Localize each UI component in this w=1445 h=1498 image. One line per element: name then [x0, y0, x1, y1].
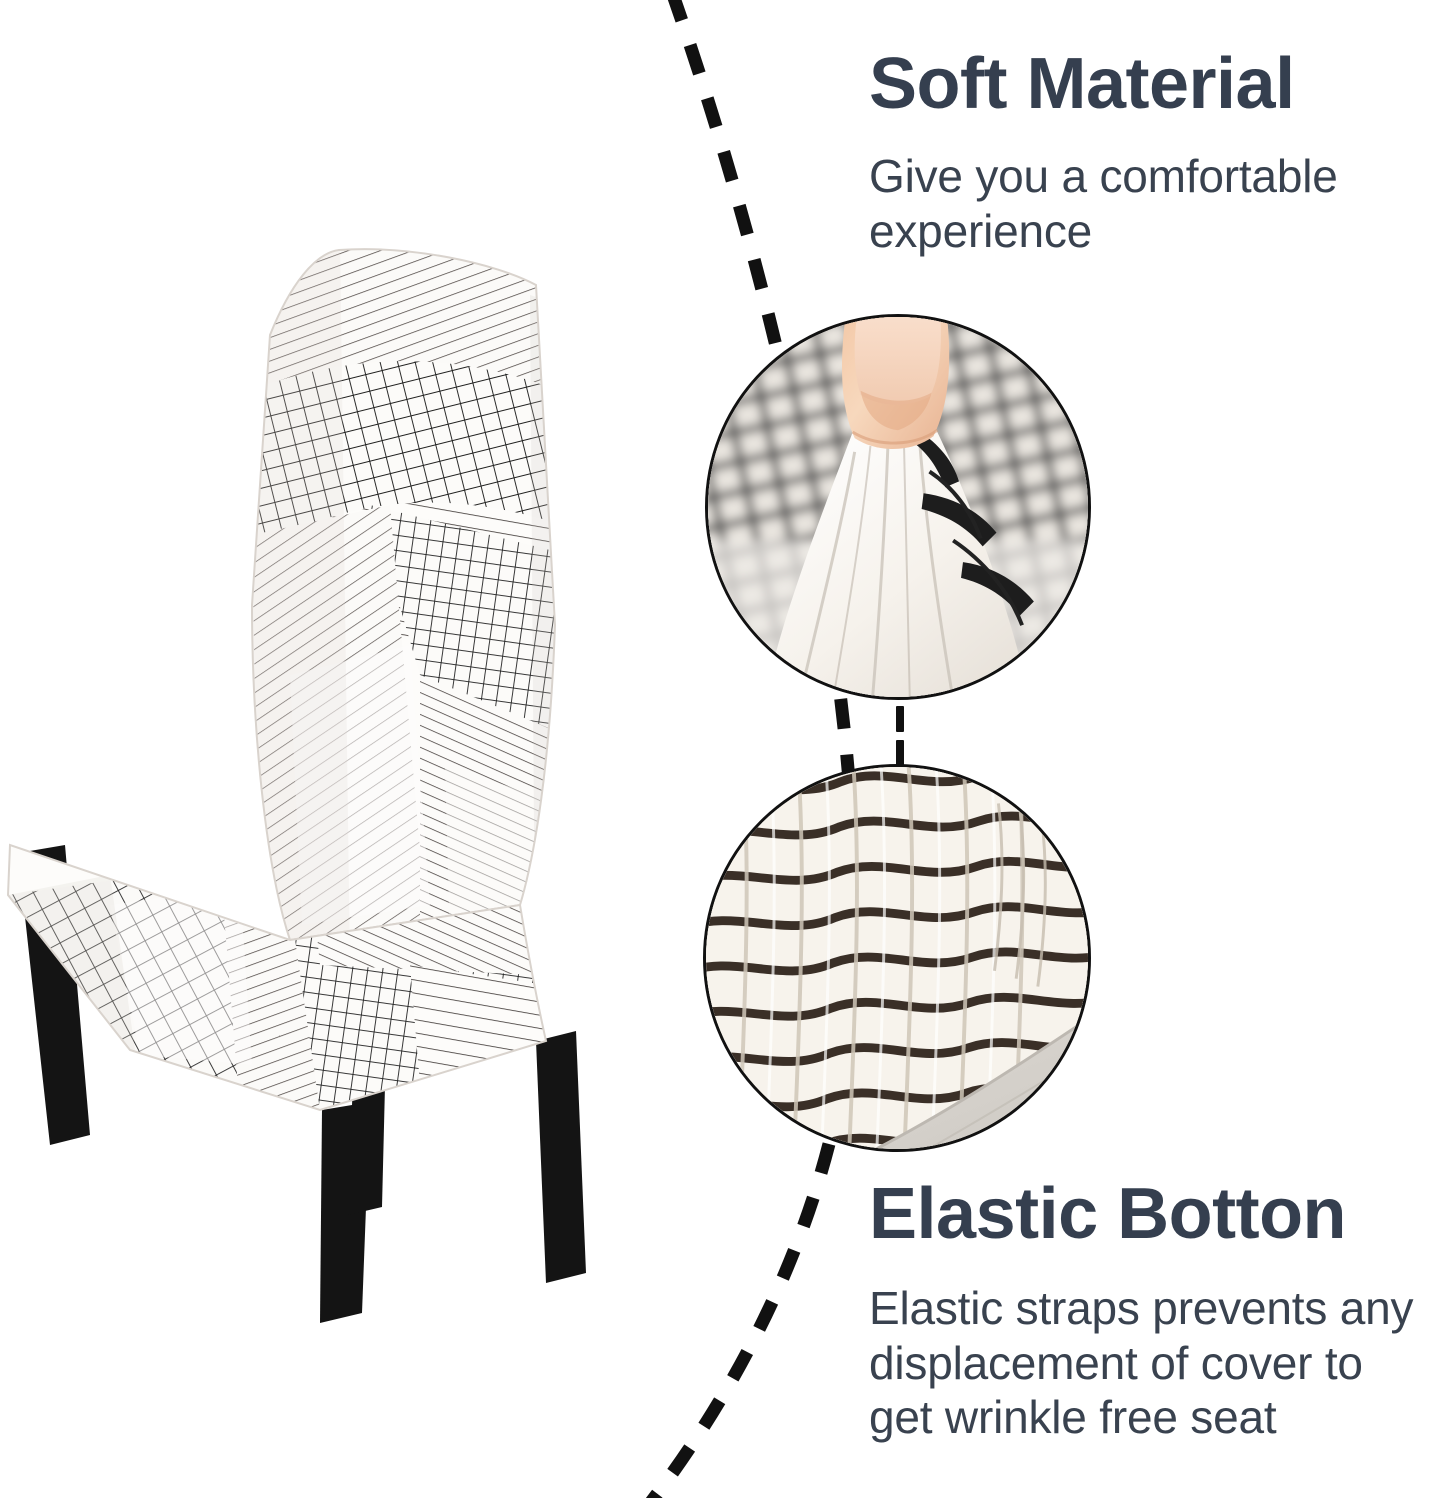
- soft-material-heading: Soft Material: [869, 48, 1429, 121]
- elastic-bottom-heading: Elastic Botton: [869, 1178, 1435, 1251]
- soft-material-body: Give you a comfortable experience: [869, 149, 1429, 258]
- inset-soft-material-photo: [705, 314, 1091, 700]
- feature-elastic-bottom: Elastic Botton Elastic straps prevents a…: [869, 1178, 1435, 1444]
- infographic-canvas: Soft Material Give you a comfortable exp…: [0, 0, 1445, 1498]
- connector-dash-lower: [896, 740, 904, 766]
- elastic-hem-photo: [703, 764, 1091, 1152]
- feature-soft-material: Soft Material Give you a comfortable exp…: [869, 48, 1429, 258]
- product-chair-image: [0, 205, 690, 1345]
- connector-dash-upper: [896, 706, 904, 732]
- chair-backrest: [240, 235, 590, 965]
- inset-elastic-bottom-photo: [703, 764, 1091, 1152]
- pinched-fabric-photo: [705, 314, 1091, 700]
- elastic-bottom-body: Elastic straps prevents any displacement…: [869, 1281, 1435, 1444]
